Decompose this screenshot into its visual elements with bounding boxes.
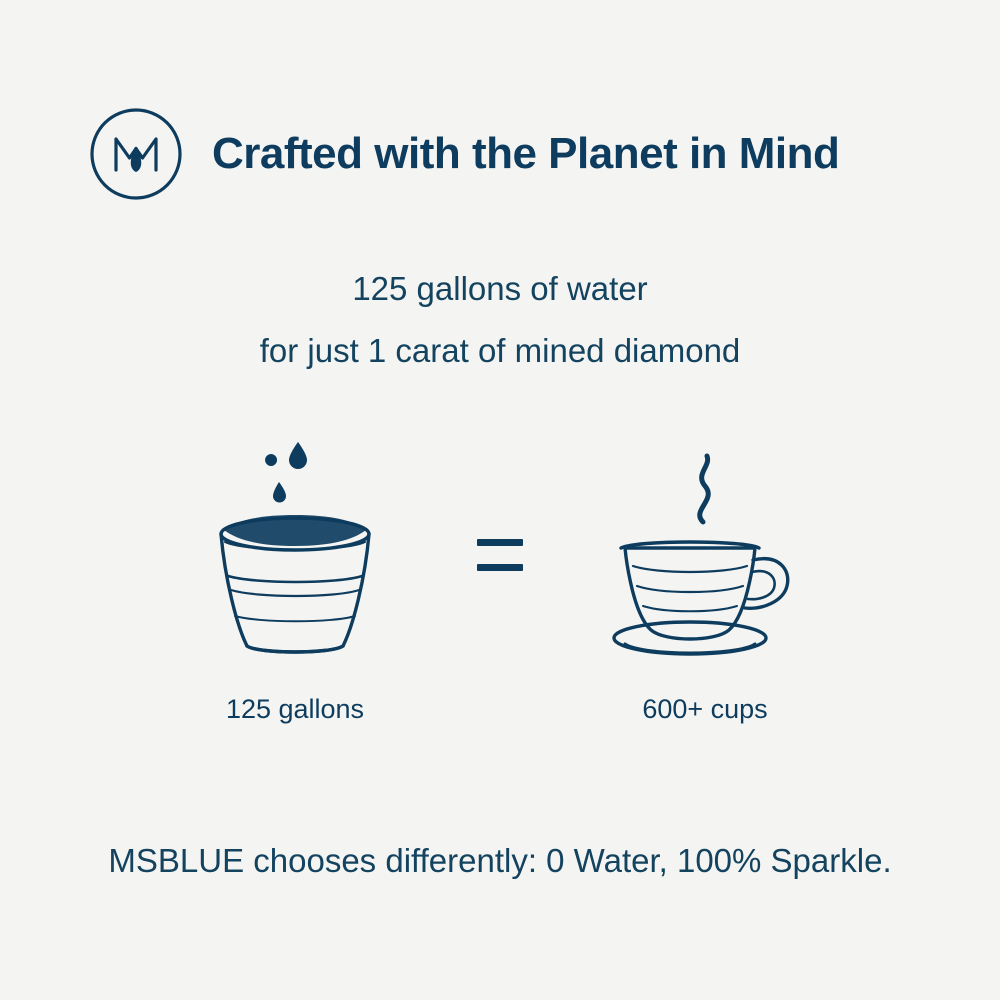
water-bucket-icon: [185, 430, 405, 680]
subtitle-line-1: 125 gallons of water: [0, 258, 1000, 320]
equals-operator: [445, 430, 555, 680]
comparison-right-label: 600+ cups: [642, 694, 767, 725]
msblue-monogram-icon: [88, 106, 184, 202]
comparison-left-label: 125 gallons: [226, 694, 364, 725]
subtitle-line-2: for just 1 carat of mined diamond: [0, 320, 1000, 382]
coffee-cup-icon: [595, 430, 815, 680]
page-title: Crafted with the Planet in Mind: [212, 129, 839, 179]
comparison-left: 125 gallons: [145, 430, 445, 725]
infographic-page: Crafted with the Planet in Mind 125 gall…: [0, 0, 1000, 1000]
equals-sign-icon: [477, 539, 523, 571]
comparison-right: 600+ cups: [555, 430, 855, 725]
comparison-row: 125 gallons: [0, 430, 1000, 725]
footer-statement: MSBLUE chooses differently: 0 Water, 100…: [0, 842, 1000, 880]
header: Crafted with the Planet in Mind: [88, 106, 839, 202]
subtitle-block: 125 gallons of water for just 1 carat of…: [0, 258, 1000, 382]
